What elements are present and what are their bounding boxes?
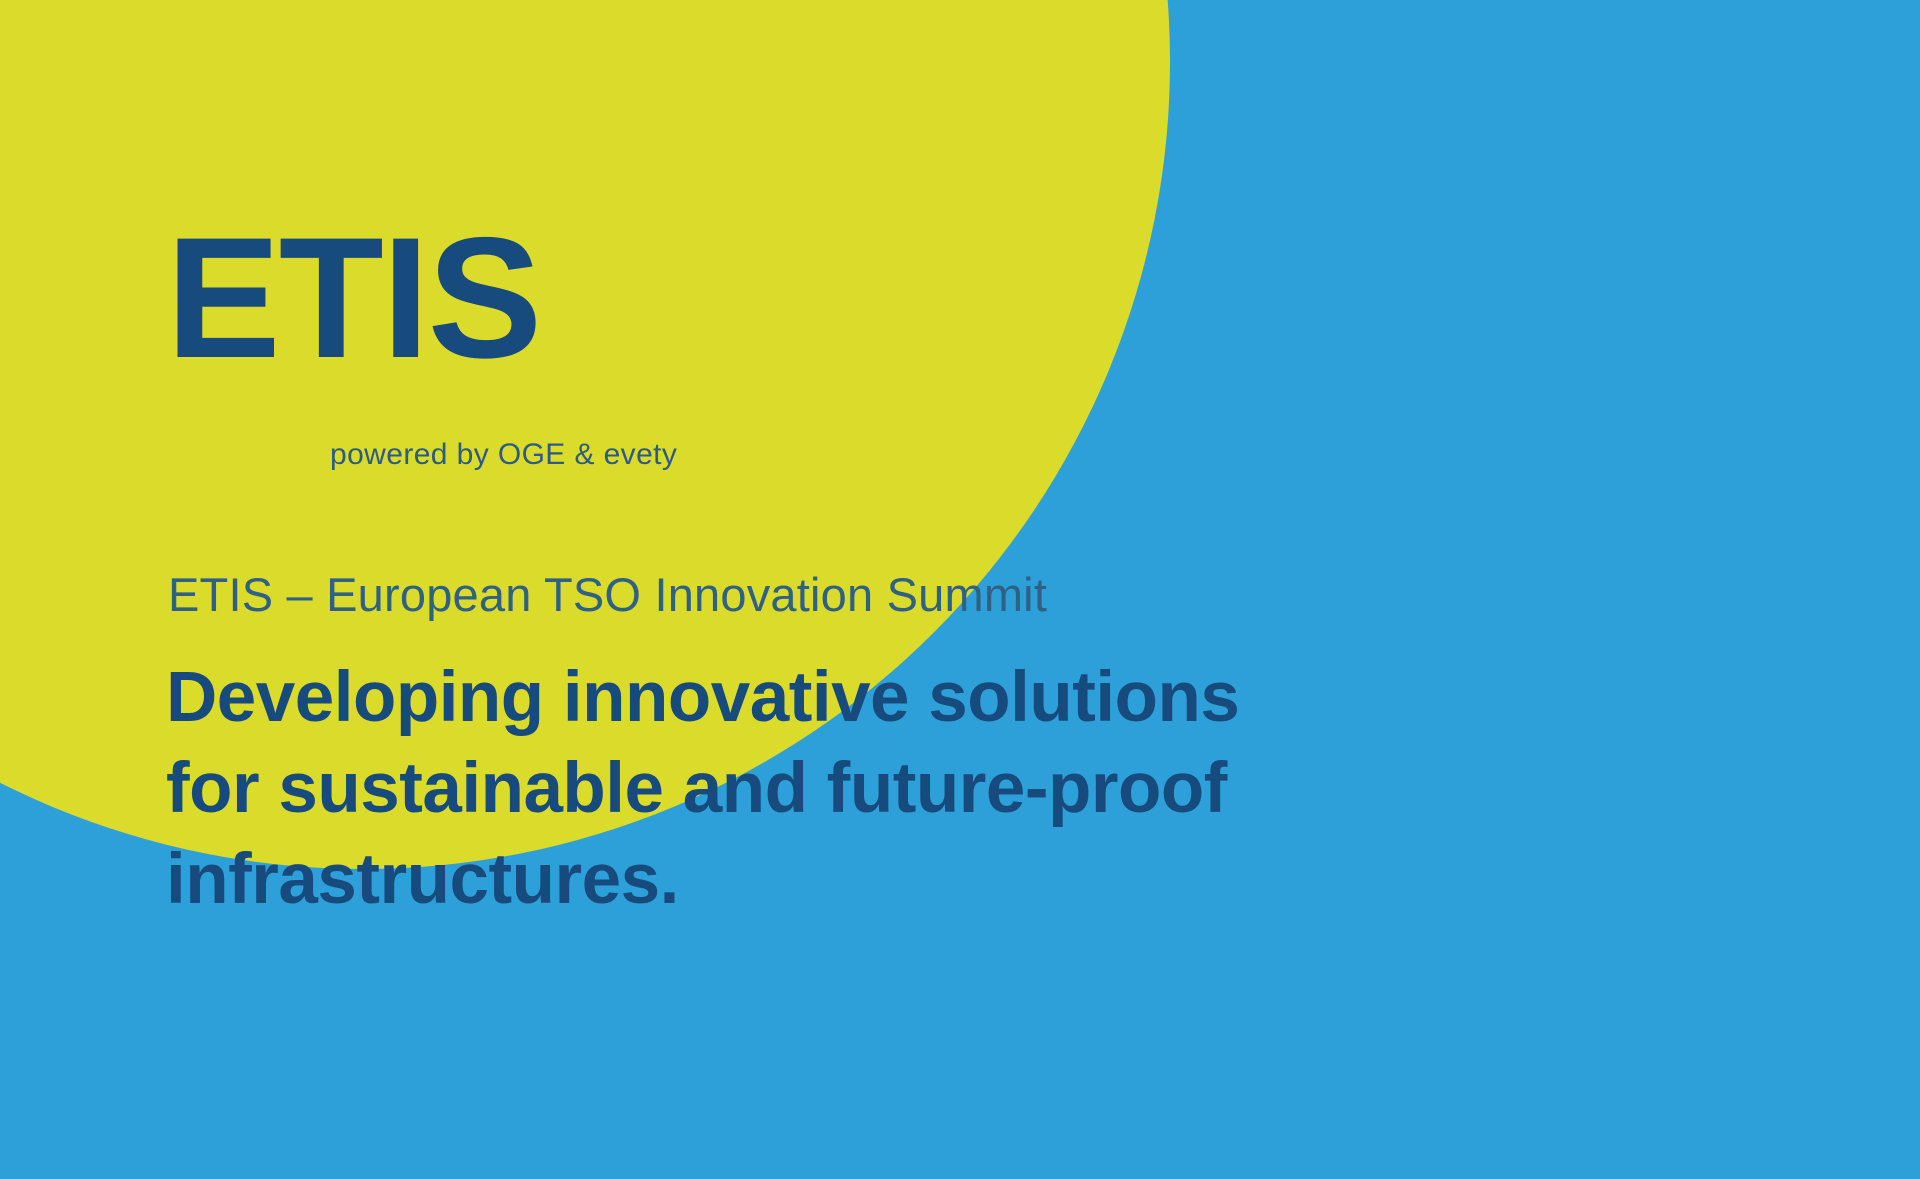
etis-logo-wordmark: ETIS [166,212,540,384]
presentation-slide: ETIS powered by OGE & evety ETIS – Europ… [0,0,1920,1179]
slide-content: ETIS powered by OGE & evety ETIS – Europ… [0,0,1920,1179]
event-name-subtitle: ETIS – European TSO Innovation Summit [168,567,1047,623]
logo-tagline: powered by OGE & evety [330,440,677,470]
headline-line-2: for sustainable and future-proof [166,744,1239,835]
headline-line-1: Developing innovative solutions [166,653,1239,744]
headline-line-3: infrastructures. [166,835,1239,926]
headline: Developing innovative solutions for sust… [166,653,1239,926]
